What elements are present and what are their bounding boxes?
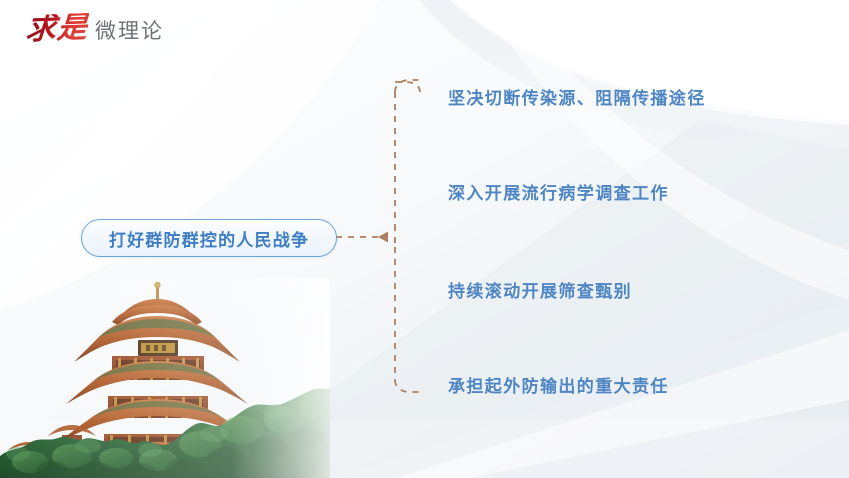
branch-item-1-label: 坚决切断传染源、阻隔传播途径 — [448, 89, 706, 108]
branch-item-2-label: 深入开展流行病学调查工作 — [448, 184, 669, 203]
branch-item-3-label: 持续滚动开展筛查甄别 — [448, 282, 632, 301]
branch-item-1[interactable]: 坚决切断传染源、阻隔传播途径 — [448, 84, 706, 109]
bracket-connector — [330, 60, 450, 410]
arrow-head-icon — [378, 232, 388, 243]
branch-item-3[interactable]: 持续滚动开展筛查甄别 — [448, 277, 632, 302]
root-node-label: 打好群防群控的人民战争 — [109, 226, 309, 251]
logo-mark-qiushi: 求是 — [25, 13, 89, 45]
branch-item-2[interactable]: 深入开展流行病学调查工作 — [448, 179, 669, 204]
root-node[interactable]: 打好群防群控的人民战争 — [81, 219, 337, 257]
branch-item-4[interactable]: 承担起外防输出的重大责任 — [448, 372, 669, 397]
brand-logo: 求是 微理论 — [26, 14, 164, 44]
yellow-crane-tower-photo — [0, 278, 330, 478]
branch-item-4-label: 承担起外防输出的重大责任 — [448, 377, 669, 396]
slide-canvas: 求是 微理论 — [0, 0, 849, 478]
logo-subtitle: 微理论 — [95, 21, 164, 42]
